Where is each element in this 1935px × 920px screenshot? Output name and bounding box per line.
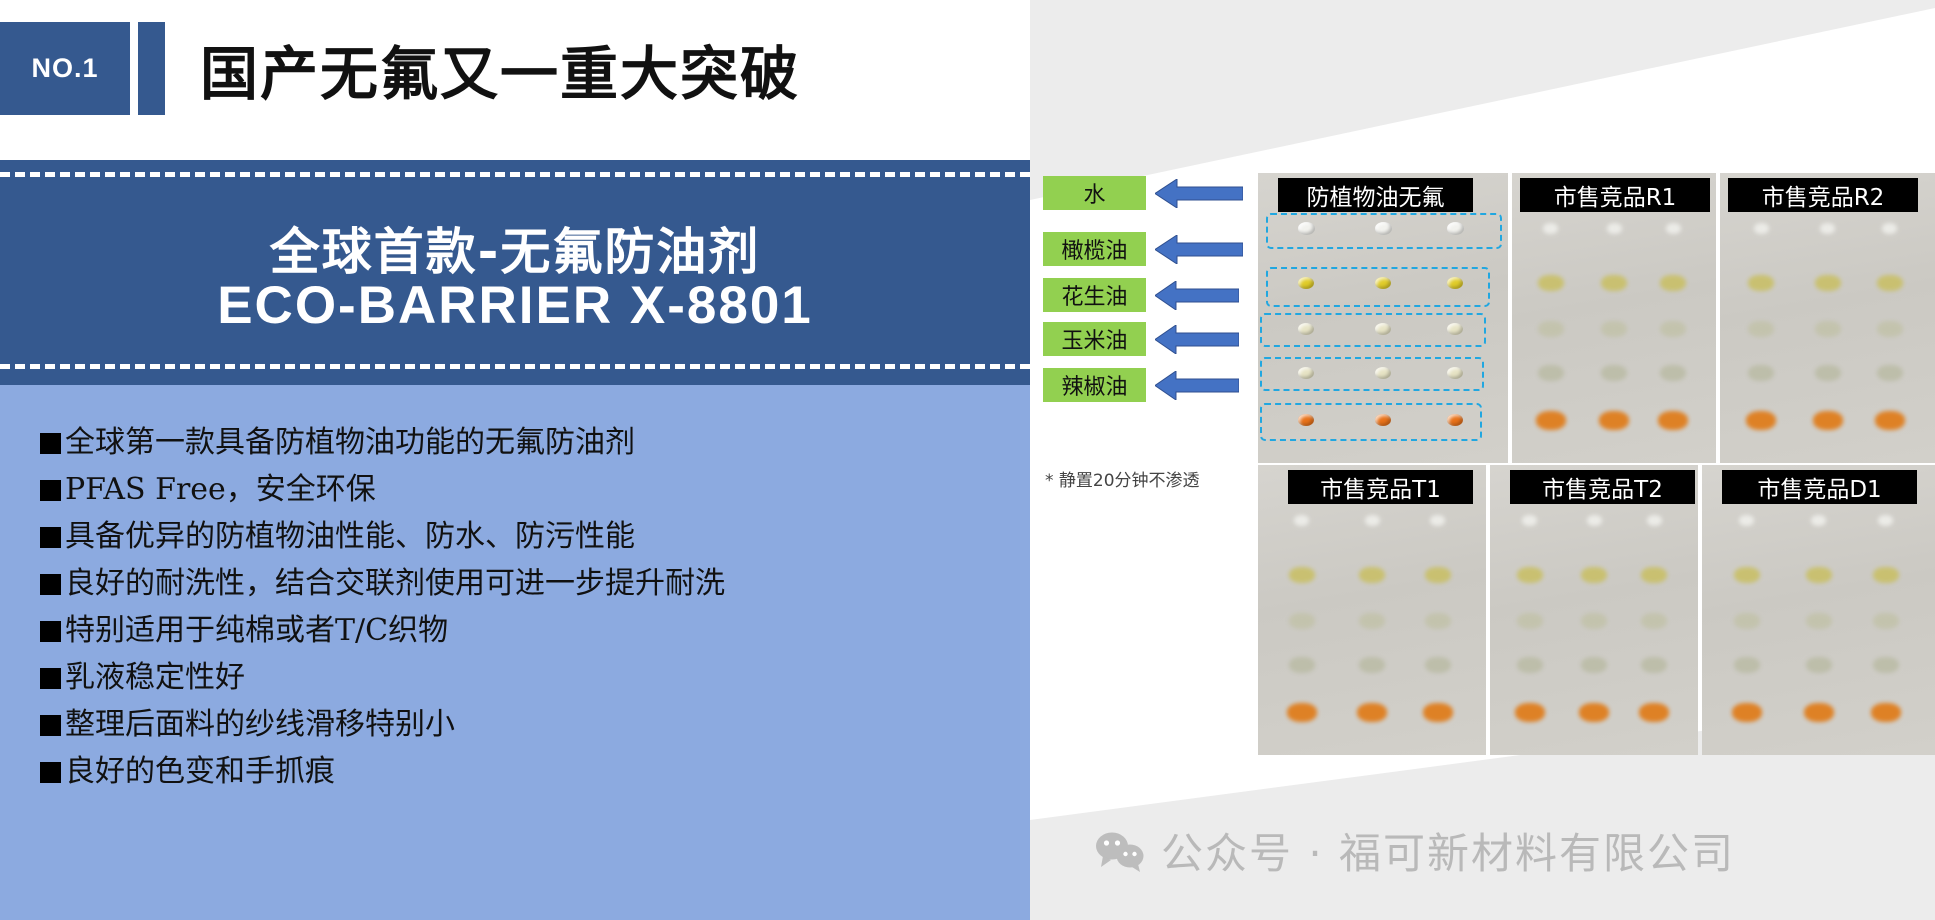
bullet-text: 良好的耐洗性，结合交联剂使用可进一步提升耐洗 — [65, 564, 725, 604]
stain-droplet — [1877, 275, 1903, 291]
stain-droplet — [1538, 321, 1564, 337]
stain-droplet — [1581, 657, 1607, 673]
stain-droplet — [1660, 365, 1686, 381]
stain-droplet — [1666, 223, 1681, 234]
bullet-item: 整理后面料的纱线滑移特别小 — [40, 705, 1030, 745]
stain-droplet — [1734, 613, 1760, 629]
legend-row: 橄榄油 — [1043, 232, 1258, 268]
test-panel: 市售竞品R1 — [1512, 173, 1716, 463]
panel-caption: 市售竞品T1 — [1288, 470, 1473, 504]
stain-droplet — [1813, 411, 1843, 430]
highlight-box — [1260, 313, 1486, 347]
stain-droplet — [1811, 515, 1826, 526]
legend-label-text: 水 — [1083, 177, 1105, 209]
highlight-box — [1260, 357, 1484, 391]
bullet-square-icon — [40, 480, 61, 501]
legend-arrow-icon — [1155, 281, 1239, 310]
legend-arrow-icon — [1155, 325, 1239, 354]
bullet-square-icon — [40, 574, 61, 595]
legend-label-box: 水 — [1043, 176, 1146, 210]
stain-droplet — [1639, 703, 1669, 722]
stain-droplet — [1804, 703, 1834, 722]
bullet-item: PFAS Free，安全环保 — [40, 470, 1030, 510]
legend-label-box: 玉米油 — [1043, 322, 1146, 356]
panel-caption: 市售竞品R2 — [1728, 178, 1918, 212]
stain-droplet — [1871, 703, 1901, 722]
stain-droplet — [1425, 613, 1451, 629]
stain-droplet — [1734, 657, 1760, 673]
stain-droplet — [1875, 411, 1905, 430]
legend-label-text: 橄榄油 — [1061, 233, 1127, 265]
legend-arrow-icon — [1155, 235, 1243, 264]
hero-dashed-rule-top — [0, 172, 1030, 177]
bullet-item: 特别适用于纯棉或者T/C织物 — [40, 611, 1030, 651]
stain-droplet — [1289, 567, 1315, 583]
stain-droplet — [1748, 321, 1774, 337]
legend-row: 玉米油 — [1043, 322, 1258, 358]
legend-label-box: 花生油 — [1043, 278, 1146, 312]
panel-caption: 市售竞品R1 — [1520, 178, 1710, 212]
legend-label-text: 花生油 — [1061, 279, 1127, 311]
test-panel: 市售竞品D1 — [1702, 465, 1935, 755]
stain-droplet — [1815, 275, 1841, 291]
stain-droplet — [1815, 321, 1841, 337]
stain-droplet — [1581, 567, 1607, 583]
legend-row: 水 — [1043, 176, 1258, 212]
bullet-square-icon — [40, 433, 61, 454]
stain-droplet — [1746, 411, 1776, 430]
stain-droplet — [1289, 657, 1315, 673]
stain-droplet — [1815, 365, 1841, 381]
stain-droplet — [1641, 567, 1667, 583]
stain-droplet — [1732, 703, 1762, 722]
stain-droplet — [1873, 657, 1899, 673]
bullet-item: 良好的耐洗性，结合交联剂使用可进一步提升耐洗 — [40, 564, 1030, 604]
stain-droplet — [1601, 275, 1627, 291]
stain-droplet — [1517, 567, 1543, 583]
legend-note: * 静置20分钟不渗透 — [1045, 466, 1200, 491]
stain-droplet — [1287, 703, 1317, 722]
stain-droplet — [1515, 703, 1545, 722]
stain-droplet — [1543, 223, 1558, 234]
legend-row: 辣椒油 — [1043, 368, 1258, 404]
bullet-square-icon — [40, 621, 61, 642]
stain-droplet — [1877, 365, 1903, 381]
no1-badge-label: NO.1 — [31, 53, 98, 84]
stain-droplet — [1806, 613, 1832, 629]
legend-arrow-icon — [1155, 371, 1239, 400]
stain-droplet — [1357, 703, 1387, 722]
legend-label-text: 玉米油 — [1061, 323, 1127, 355]
stain-droplet — [1601, 365, 1627, 381]
bullet-text: 乳液稳定性好 — [65, 658, 245, 698]
bullet-square-icon — [40, 527, 61, 548]
stain-droplet — [1873, 567, 1899, 583]
bullet-item: 具备优异的防植物油性能、防水、防污性能 — [40, 517, 1030, 557]
bullet-text: PFAS Free，安全环保 — [65, 470, 376, 510]
bullet-square-icon — [40, 762, 61, 783]
stain-droplet — [1538, 275, 1564, 291]
stain-droplet — [1754, 223, 1769, 234]
page-title: 国产无氟又一重大突破 — [200, 22, 800, 115]
panel-caption: 市售竞品D1 — [1722, 470, 1917, 504]
stain-droplet — [1425, 567, 1451, 583]
stain-droplet — [1641, 657, 1667, 673]
bullet-item: 良好的色变和手抓痕 — [40, 752, 1030, 792]
slide-root: NO.1 国产无氟又一重大突破 全球首款-无氟防油剂 ECO-BARRIER X… — [0, 0, 1935, 920]
stain-droplet — [1289, 613, 1315, 629]
stain-droplet — [1882, 223, 1897, 234]
legend-row: 花生油 — [1043, 278, 1258, 314]
stain-droplet — [1601, 321, 1627, 337]
test-panel: 市售竞品T1 — [1258, 465, 1486, 755]
stain-droplet — [1877, 321, 1903, 337]
stain-droplet — [1806, 657, 1832, 673]
bullet-item: 乳液稳定性好 — [40, 658, 1030, 698]
legend-arrow-icon — [1155, 179, 1243, 208]
stain-droplet — [1423, 703, 1453, 722]
stain-droplet — [1599, 411, 1629, 430]
stain-droplet — [1873, 613, 1899, 629]
stain-droplet — [1641, 613, 1667, 629]
stain-droplet — [1538, 365, 1564, 381]
bullet-text: 具备优异的防植物油性能、防水、防污性能 — [65, 517, 635, 557]
feature-bullet-list: 全球第一款具备防植物油功能的无氟防油剂 PFAS Free，安全环保具备优异的防… — [0, 385, 1030, 920]
panel-caption: 市售竞品T2 — [1510, 470, 1695, 504]
highlight-box — [1266, 213, 1502, 249]
panel-caption: 防植物油无氟 — [1278, 178, 1473, 212]
bullet-text: 全球第一款具备防植物油功能的无氟防油剂 — [65, 423, 635, 463]
stain-droplet — [1359, 567, 1385, 583]
bullet-text: 整理后面料的纱线滑移特别小 — [65, 705, 455, 745]
bullet-square-icon — [40, 715, 61, 736]
highlight-box — [1260, 403, 1482, 441]
legend-label-text: 辣椒油 — [1061, 369, 1127, 401]
no1-badge: NO.1 — [0, 22, 130, 115]
stain-droplet — [1579, 703, 1609, 722]
hero-line-1: 全球首款-无氟防油剂 — [0, 212, 1030, 284]
stain-droplet — [1748, 275, 1774, 291]
stain-droplet — [1359, 657, 1385, 673]
stain-droplet — [1430, 515, 1445, 526]
stain-droplet — [1647, 515, 1662, 526]
bullet-square-icon — [40, 668, 61, 689]
stain-droplet — [1522, 515, 1537, 526]
test-panel: 防植物油无氟 — [1258, 173, 1508, 463]
highlight-box — [1266, 267, 1490, 307]
bullet-text: 良好的色变和手抓痕 — [65, 752, 335, 792]
stain-droplet — [1658, 411, 1688, 430]
stain-droplet — [1517, 613, 1543, 629]
stain-droplet — [1581, 613, 1607, 629]
test-panel: 市售竞品T2 — [1490, 465, 1698, 755]
footer-brand: 公众号 · 福可新材料有限公司 — [1095, 820, 1735, 881]
stain-droplet — [1425, 657, 1451, 673]
header-accent-bar — [138, 22, 165, 115]
stain-droplet — [1748, 365, 1774, 381]
legend-label-box: 辣椒油 — [1043, 368, 1146, 402]
stain-droplet — [1587, 515, 1602, 526]
test-panel: 市售竞品R2 — [1720, 173, 1935, 463]
stain-droplet — [1734, 567, 1760, 583]
stain-droplet — [1878, 515, 1893, 526]
stain-droplet — [1660, 321, 1686, 337]
stain-droplet — [1359, 613, 1385, 629]
wechat-icon — [1095, 830, 1147, 872]
stain-droplet — [1660, 275, 1686, 291]
stain-droplet — [1365, 515, 1380, 526]
liquid-legend: 水橄榄油花生油玉米油辣椒油 — [1043, 170, 1258, 460]
footer-text: 公众号 · 福可新材料有限公司 — [1161, 820, 1735, 881]
stain-droplet — [1517, 657, 1543, 673]
stain-droplet — [1536, 411, 1566, 430]
legend-label-box: 橄榄油 — [1043, 232, 1146, 266]
stain-droplet — [1607, 223, 1622, 234]
stain-droplet — [1294, 515, 1309, 526]
stain-droplet — [1806, 567, 1832, 583]
bullet-text: 特别适用于纯棉或者T/C织物 — [65, 611, 448, 651]
stain-droplet — [1820, 223, 1835, 234]
hero-line-2: ECO-BARRIER X-8801 — [0, 275, 1030, 336]
stain-droplet — [1739, 515, 1754, 526]
bullet-item: 全球第一款具备防植物油功能的无氟防油剂 — [40, 423, 1030, 463]
hero-block: 全球首款-无氟防油剂 ECO-BARRIER X-8801 — [0, 160, 1030, 385]
hero-dashed-rule-bottom — [0, 364, 1030, 369]
